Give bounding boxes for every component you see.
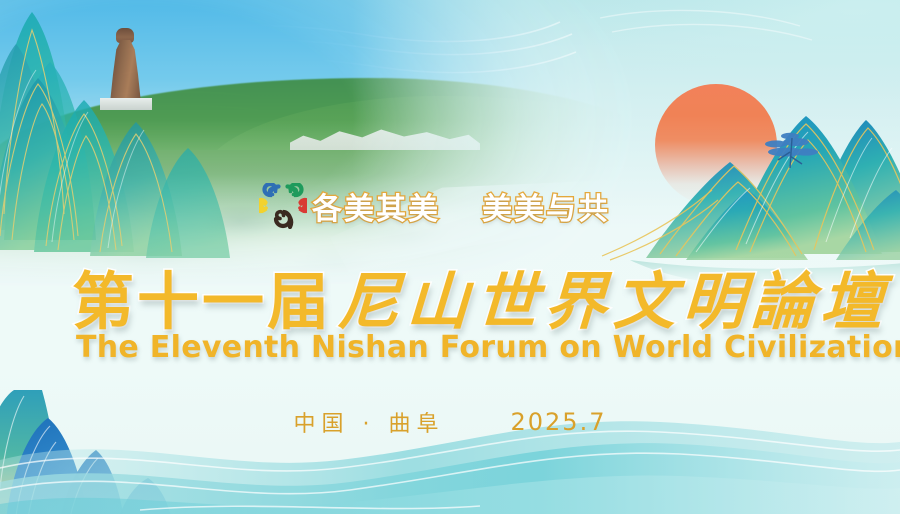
five-spiral-emblem-icon xyxy=(259,183,307,229)
water-waves xyxy=(0,364,900,514)
footer-place: 中国 · 曲阜 xyxy=(294,406,445,438)
title-chinese-prefix: 第十一届 xyxy=(72,251,332,341)
title-chinese-calligraphy: 尼山世界文明論壇 xyxy=(336,251,893,341)
page-title-chinese: 第十一届 尼山世界文明論壇 xyxy=(70,258,854,334)
footer-date: 2025.7 xyxy=(511,408,607,436)
page-title-english: The Eleventh Nishan Forum on World Civil… xyxy=(76,330,856,365)
footer-line: 中国 · 曲阜 2025.7 xyxy=(0,406,900,438)
slogan: 各美其美 美美与共 xyxy=(312,182,672,230)
slogan-right-phrase: 美美与共 xyxy=(482,184,610,228)
nishan-forum-poster: 各美其美 美美与共 第十一届 尼山世界文明論壇 The Eleventh Nis… xyxy=(0,0,900,514)
slogan-left-phrase: 各美其美 xyxy=(312,184,440,228)
